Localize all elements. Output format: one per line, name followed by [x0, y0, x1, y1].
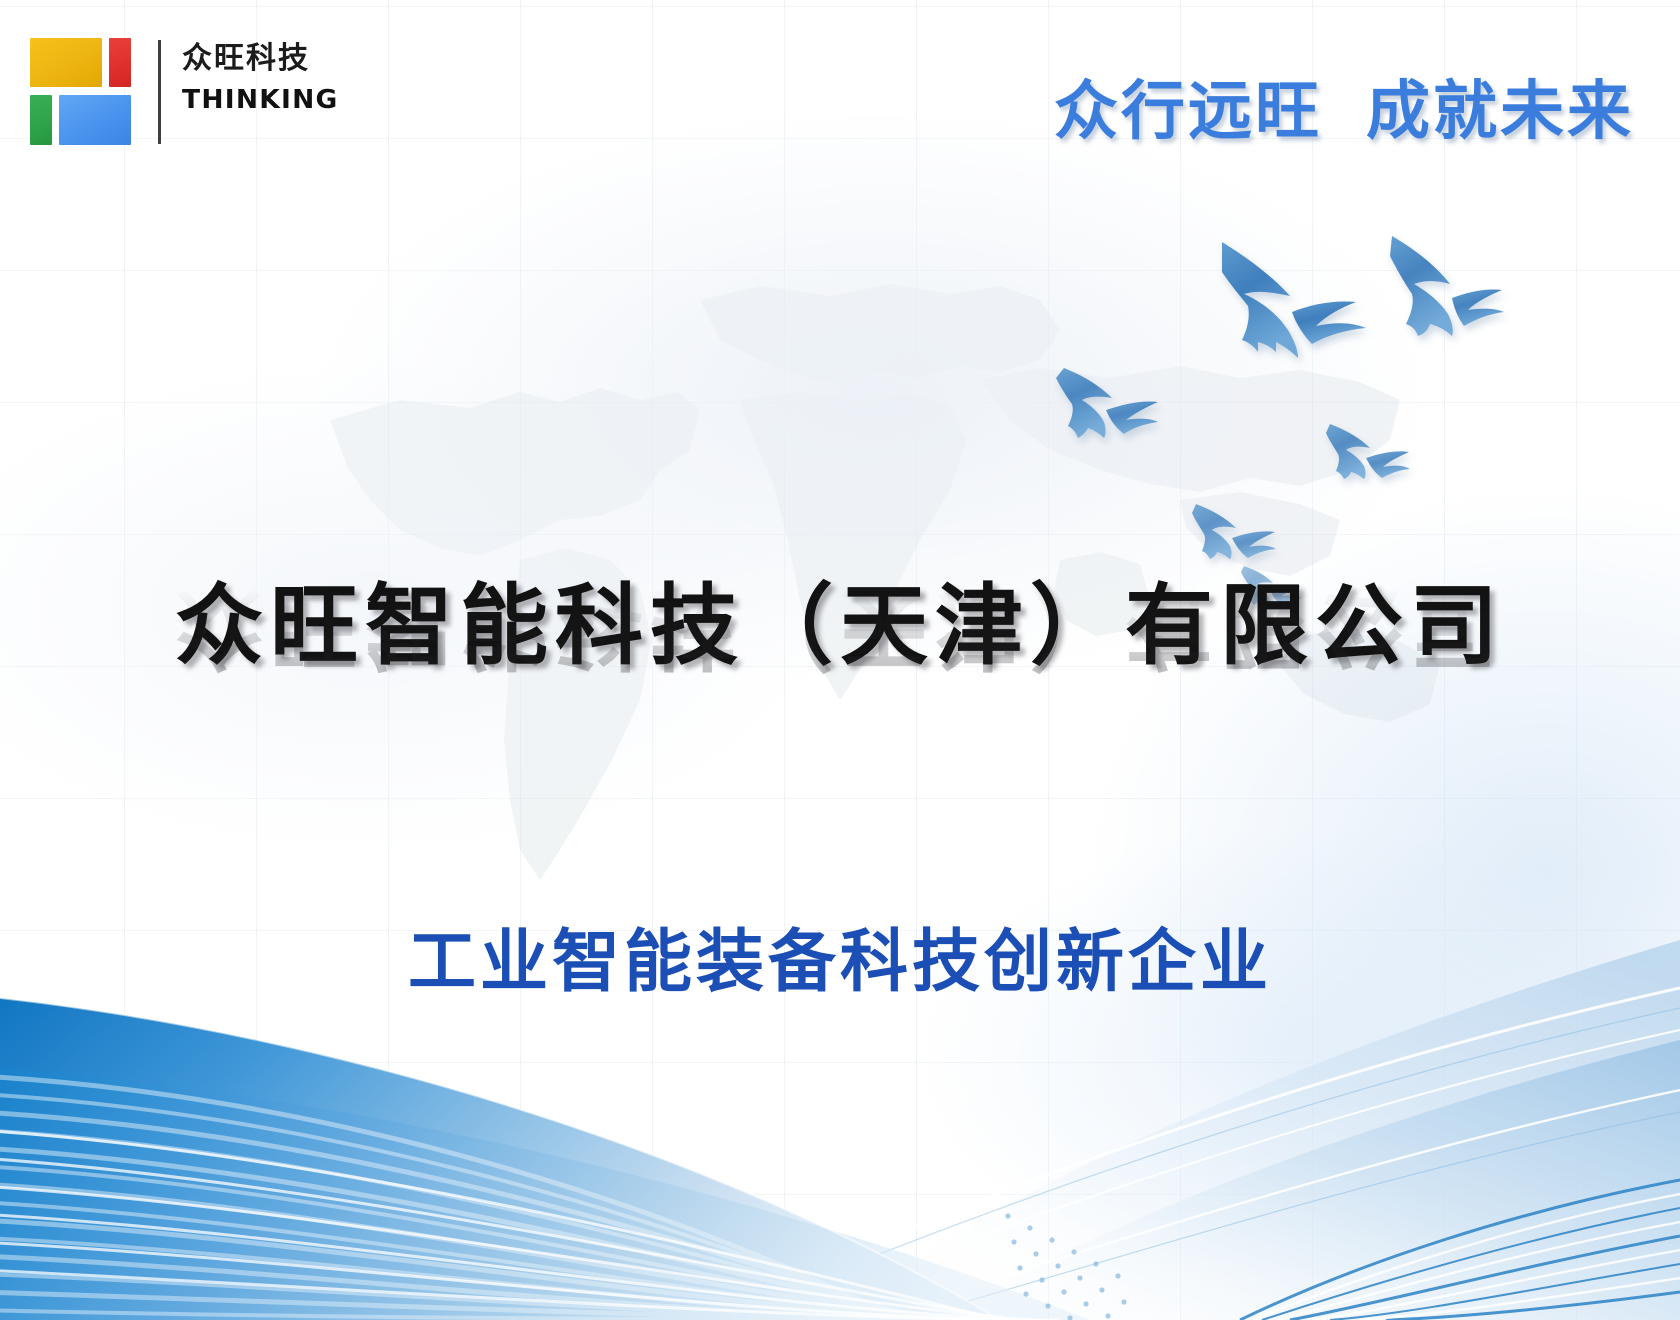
seagull-icon-3 [1056, 368, 1158, 438]
logo-yellow-square-icon [30, 38, 102, 87]
header-slogan: 众行远旺成就未来 [1054, 60, 1634, 152]
logo-blue-square-icon [59, 95, 131, 145]
logo-green-bar-icon [30, 95, 52, 145]
slogan-left-text: 众行远旺 [1054, 75, 1322, 149]
logo-red-bar-icon [109, 38, 131, 87]
seagull-icon-2 [1390, 236, 1504, 336]
seagull-icon-1 [1222, 242, 1366, 358]
logo-wordmark: 众旺科技 THINKING [182, 40, 332, 116]
page-subtitle: 工业智能装备科技创新企业 [0, 906, 1680, 1005]
company-logo[interactable]: 众旺科技 THINKING [30, 32, 320, 152]
title-area: 众旺智能科技（天津）有限公司 众旺智能科技（天津）有限公司 [0, 578, 1680, 770]
logo-name-en: THINKING [182, 85, 335, 116]
logo-divider [158, 40, 161, 144]
seagull-icon-5 [1192, 504, 1276, 559]
presentation-slide: 众旺科技 THINKING 众行远旺成就未来 [0, 0, 1680, 1320]
logo-mark-grid [30, 38, 142, 146]
slogan-right-text: 成就未来 [1366, 75, 1634, 149]
logo-name-cn: 众旺科技 [182, 40, 332, 78]
page-title-reflection: 众旺智能科技（天津）有限公司 [0, 580, 1680, 675]
seagull-icon-4 [1326, 424, 1410, 479]
